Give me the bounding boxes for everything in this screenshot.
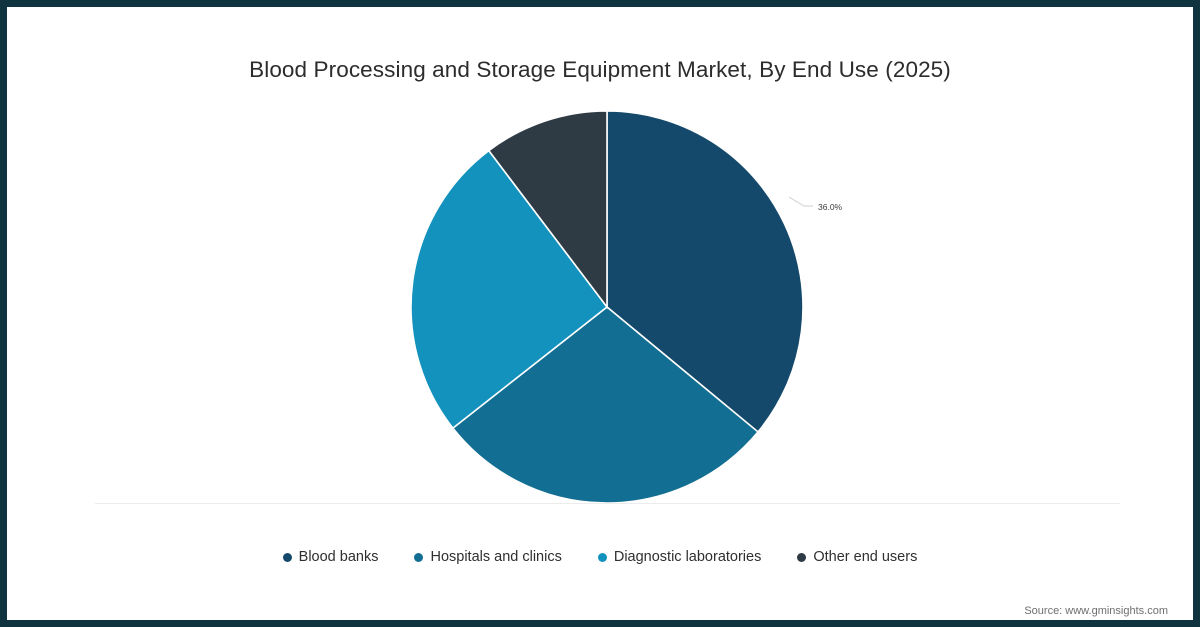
pie-slice-group: [411, 111, 803, 503]
chart-canvas: Blood Processing and Storage Equipment M…: [7, 7, 1193, 620]
legend-item-label: Other end users: [813, 549, 917, 565]
slice-data-label: 36.0%: [818, 202, 843, 212]
pie-callout-group: 36.0%: [789, 197, 843, 212]
legend-item[interactable]: Hospitals and clinics: [414, 549, 561, 565]
source-attribution: Source: www.gminsights.com: [1024, 605, 1168, 617]
chart-legend: Blood banksHospitals and clinicsDiagnost…: [7, 549, 1193, 565]
legend-item-label: Diagnostic laboratories: [614, 549, 762, 565]
legend-item[interactable]: Blood banks: [283, 549, 379, 565]
legend-circle-marker: [414, 553, 423, 562]
legend-item-label: Blood banks: [299, 549, 379, 565]
legend-divider: [95, 503, 1120, 504]
callout-leader-line: [789, 197, 813, 206]
legend-item-label: Hospitals and clinics: [430, 549, 561, 565]
pie-chart-svg: 36.0%: [7, 7, 1193, 620]
legend-item[interactable]: Diagnostic laboratories: [598, 549, 762, 565]
legend-circle-marker: [797, 553, 806, 562]
legend-circle-marker: [283, 553, 292, 562]
pie-chart: 36.0%: [7, 7, 1193, 620]
legend-circle-marker: [598, 553, 607, 562]
chart-frame: Blood Processing and Storage Equipment M…: [0, 0, 1200, 627]
legend-item[interactable]: Other end users: [797, 549, 917, 565]
